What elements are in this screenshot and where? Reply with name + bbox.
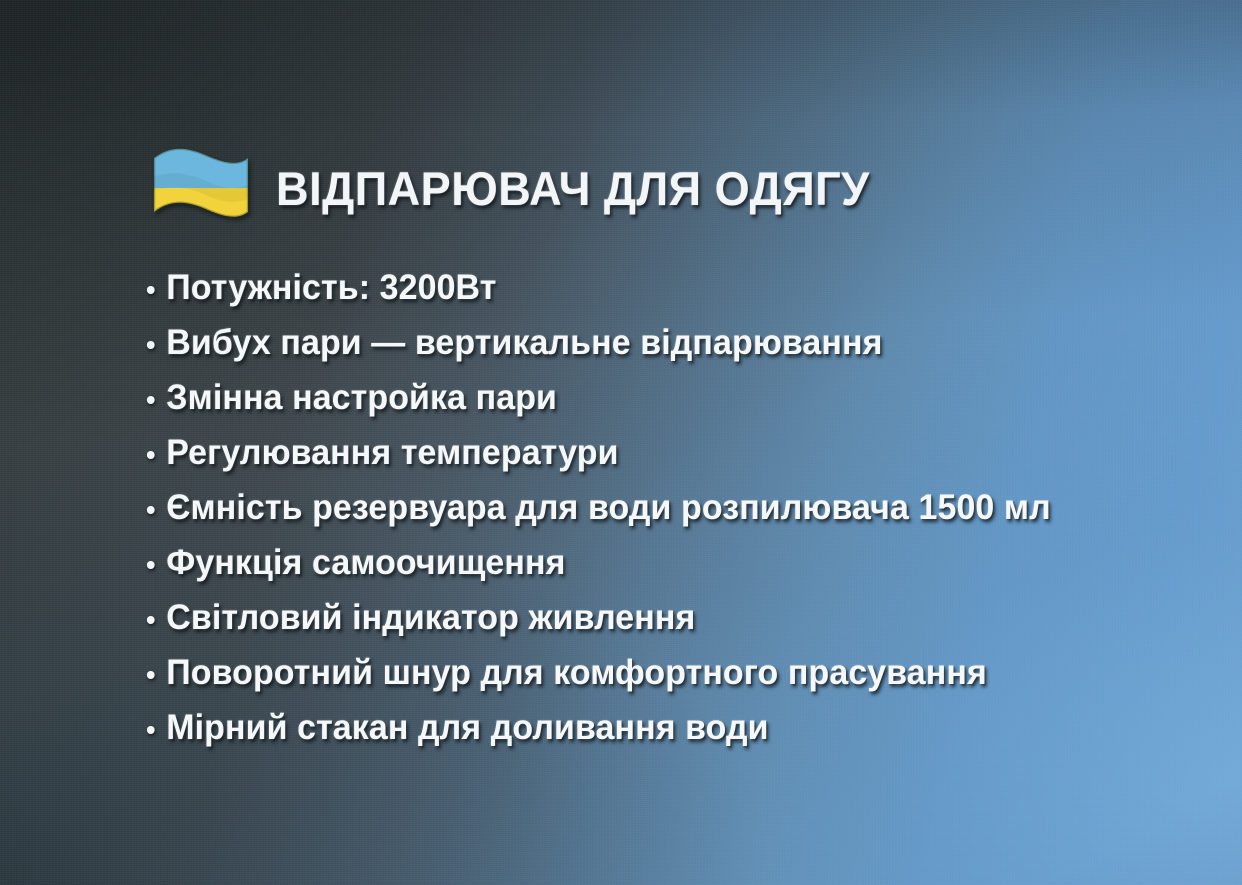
list-item-label: Функція самоочищення <box>166 543 565 583</box>
bullet-icon: • <box>146 551 156 579</box>
bullet-icon: • <box>146 496 156 524</box>
title-row: ВІДПАРЮВАЧ ДЛЯ ОДЯГУ <box>146 140 894 236</box>
bullet-icon: • <box>146 331 156 359</box>
list-item-label: Ємність резервуара для води розпилювача … <box>166 488 1051 528</box>
bullet-icon: • <box>146 386 156 414</box>
feature-list: • Потужність: 3200Вт • Вибух пари — верт… <box>146 268 1166 763</box>
bullet-icon: • <box>146 441 156 469</box>
list-item-label: Світловий індикатор живлення <box>166 598 695 638</box>
ukraine-flag-icon <box>146 140 254 236</box>
list-item: • Вибух пари — вертикальне відпарювання <box>146 323 1135 378</box>
list-item-label: Потужність: 3200Вт <box>166 268 496 308</box>
list-item-label: Змінна настройка пари <box>166 378 557 418</box>
list-item: • Функція самоочищення <box>146 543 1135 598</box>
bullet-icon: • <box>146 716 156 744</box>
list-item-label: Поворотний шнур для комфортного прасуван… <box>166 653 987 693</box>
bullet-icon: • <box>146 661 156 689</box>
list-item: • Змінна настройка пари <box>146 378 1135 433</box>
list-item-label: Вибух пари — вертикальне відпарювання <box>166 323 882 363</box>
page-title: ВІДПАРЮВАЧ ДЛЯ ОДЯГУ <box>276 161 870 216</box>
list-item: • Ємність резервуара для води розпилювач… <box>146 488 1135 543</box>
list-item: • Світловий індикатор живлення <box>146 598 1135 653</box>
list-item: • Поворотний шнур для комфортного прасув… <box>146 653 1135 708</box>
list-item: • Мірний стакан для доливання води <box>146 708 1135 763</box>
list-item: • Потужність: 3200Вт <box>146 268 1135 323</box>
bullet-icon: • <box>146 606 156 634</box>
list-item-label: Регулювання температури <box>166 433 618 473</box>
bullet-icon: • <box>146 276 156 304</box>
presentation-slide: ВІДПАРЮВАЧ ДЛЯ ОДЯГУ • Потужність: 3200В… <box>0 0 1242 885</box>
list-item: • Регулювання температури <box>146 433 1135 488</box>
list-item-label: Мірний стакан для доливання води <box>166 708 768 748</box>
